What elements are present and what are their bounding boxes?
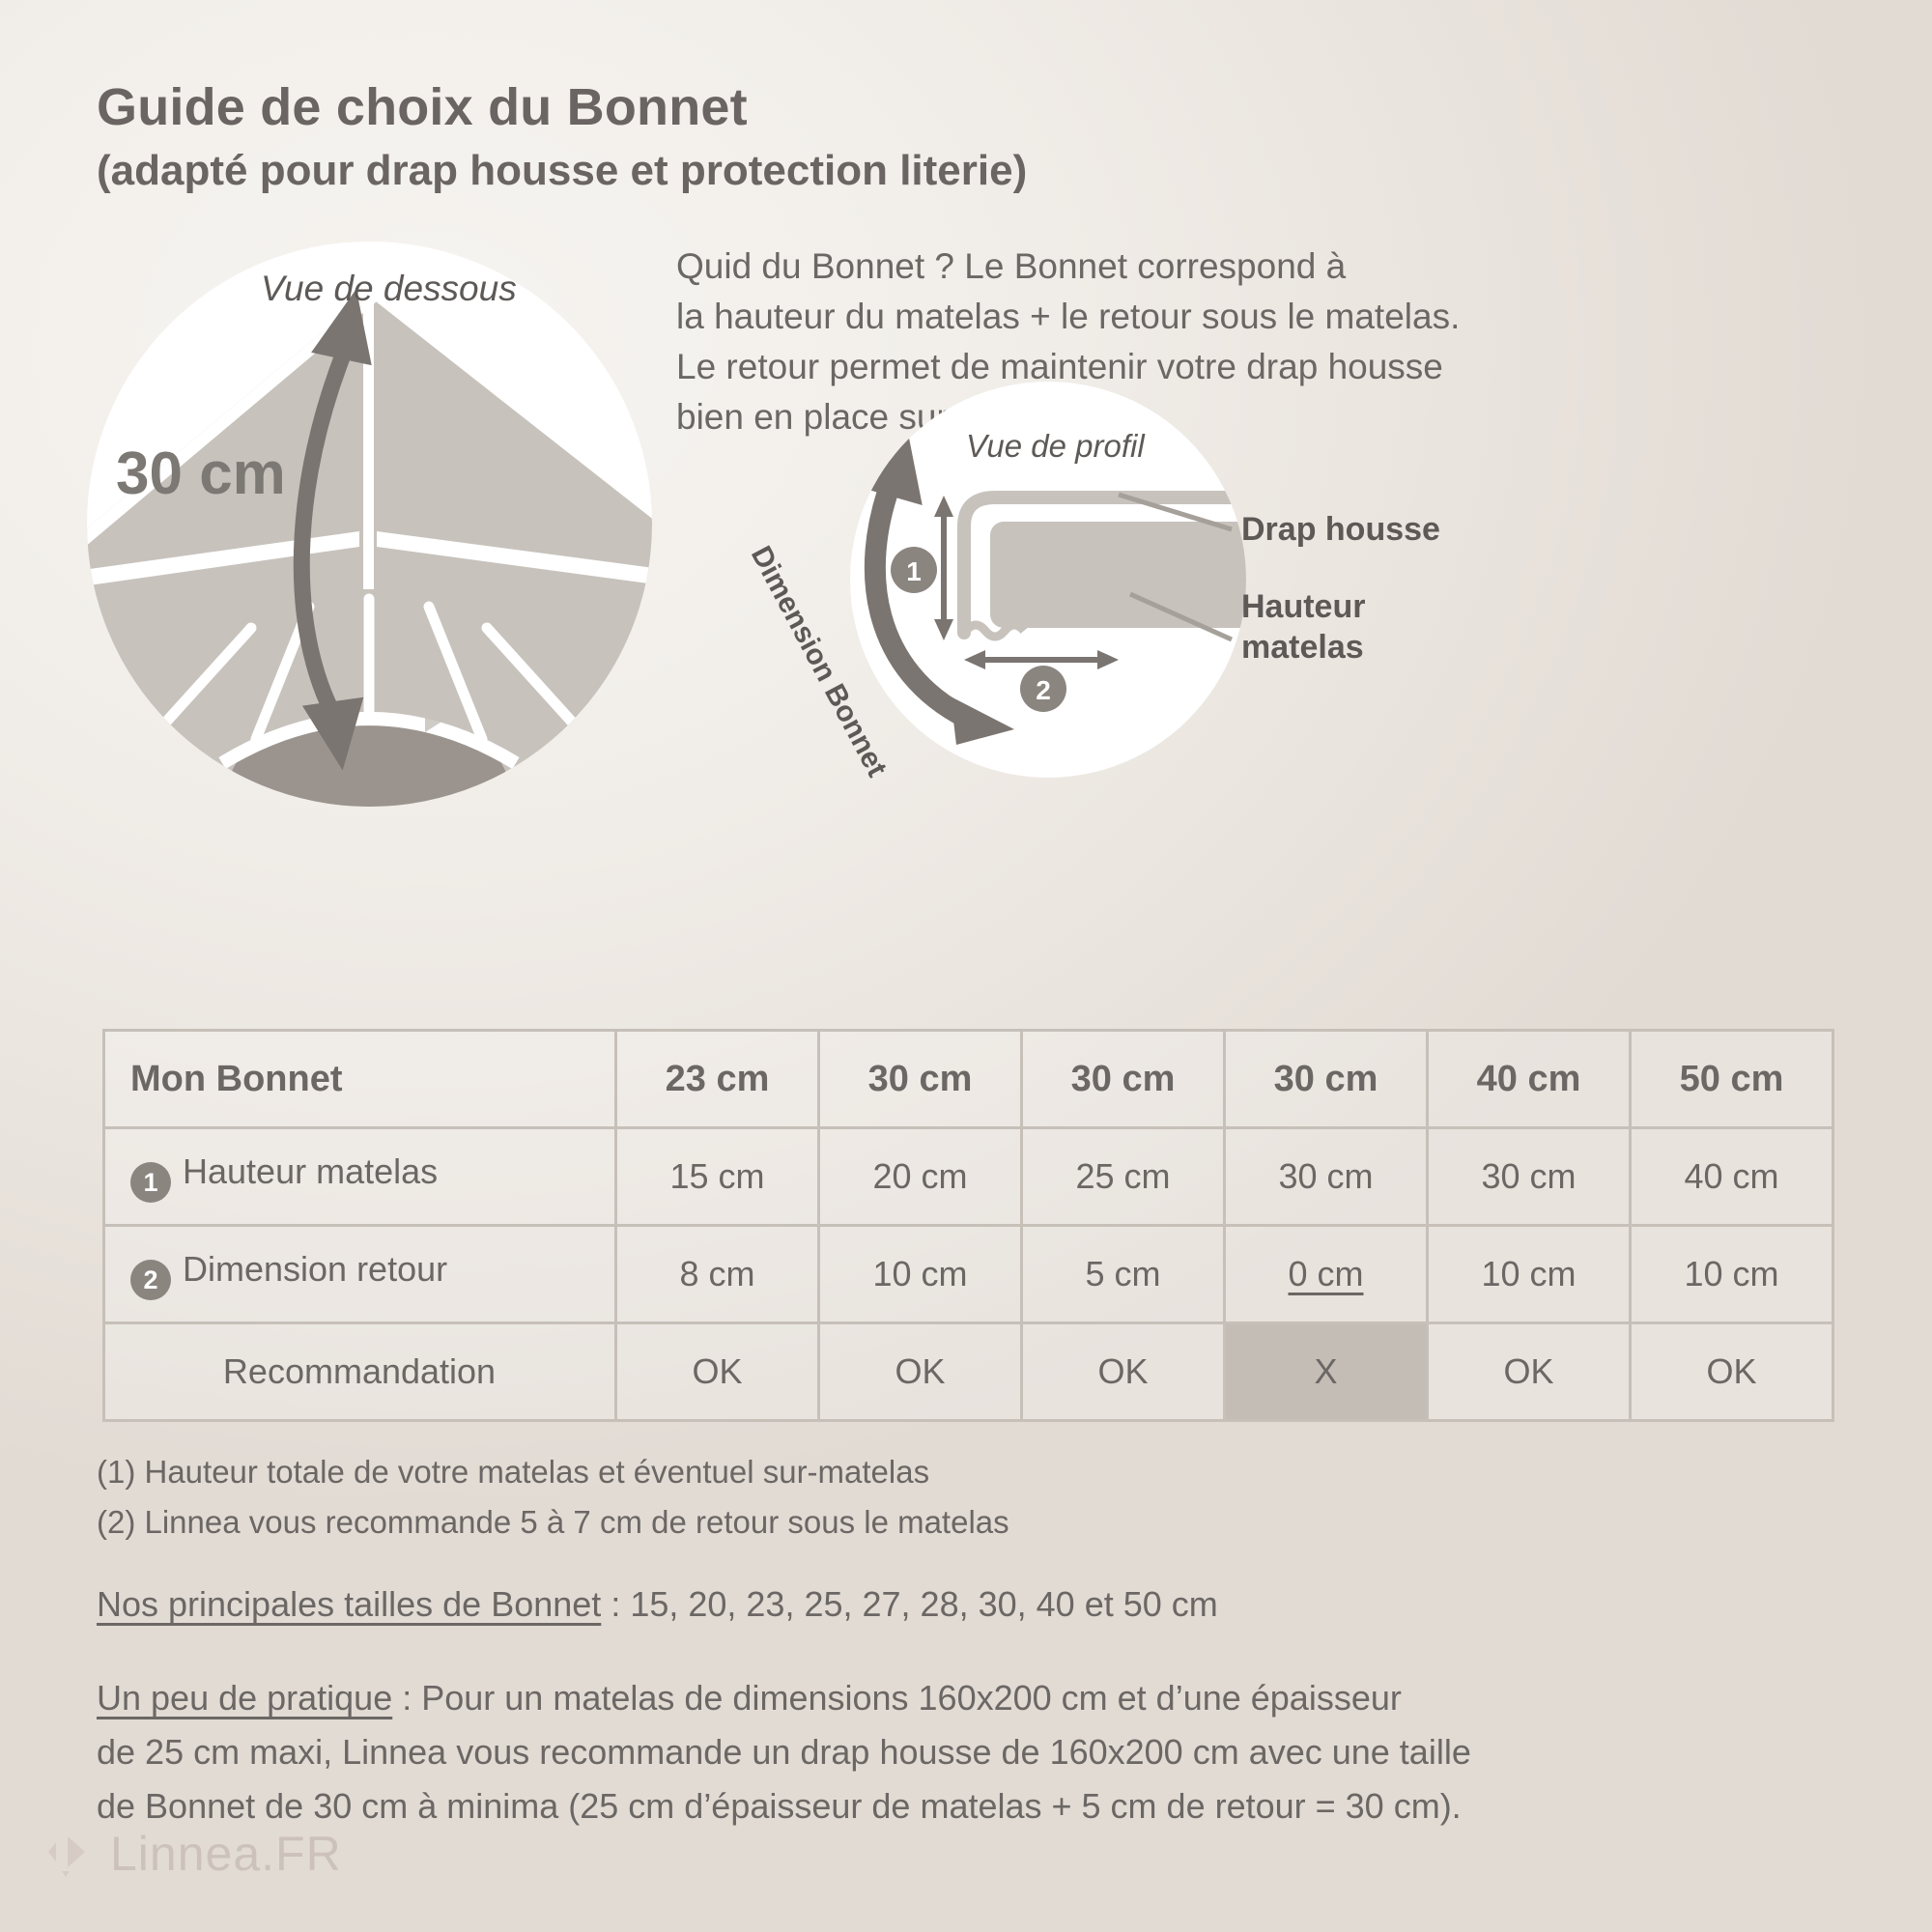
callout-hauteur-line-1: Hauteur	[1241, 588, 1365, 625]
table-cell-hauteur-4: 30 cm	[1428, 1128, 1631, 1226]
principal-sizes-value: : 15, 20, 23, 25, 27, 28, 30, 40 et 50 c…	[601, 1584, 1217, 1624]
table-cell-retour-3: 0 cm	[1225, 1226, 1428, 1323]
table-cell-hauteur-2: 25 cm	[1022, 1128, 1225, 1226]
bonnet-measure-label: 30 cm	[116, 440, 286, 508]
principal-sizes-line: Nos principales tailles de Bonnet : 15, …	[97, 1584, 1218, 1625]
badge-2-icon: 2	[1020, 666, 1066, 712]
table-row: 2Dimension retour 8 cm 10 cm 5 cm 0 cm 1…	[104, 1226, 1833, 1323]
brand-logo[interactable]: Linnea.FR	[39, 1826, 342, 1882]
table-cell-bonnet-5: 50 cm	[1631, 1031, 1833, 1128]
table-cell-reco-5: OK	[1631, 1323, 1833, 1421]
bottom-view-label: Vue de dessous	[261, 269, 517, 309]
table-row: Mon Bonnet 23 cm 30 cm 30 cm 30 cm 40 cm…	[104, 1031, 1833, 1128]
practice-line-2: de 25 cm maxi, Linnea vous recommande un…	[97, 1725, 1471, 1779]
diagram-bottom-view: Vue de dessous 30 cm	[87, 241, 652, 807]
intro-line-2: la hauteur du matelas + le retour sous l…	[676, 292, 1468, 342]
linnea-logo-text: Linnea.FR	[110, 1826, 342, 1882]
linnea-diamond-icon	[39, 1827, 93, 1881]
page-title: Guide de choix du Bonnet	[97, 77, 748, 137]
practice-line-1: Un peu de pratique : Pour un matelas de …	[97, 1671, 1471, 1725]
table-cell-retour-0: 8 cm	[616, 1226, 819, 1323]
footnote-1: (1) Hauteur totale de votre matelas et é…	[97, 1454, 929, 1491]
table-row-label-retour: 2Dimension retour	[104, 1226, 616, 1323]
practice-label: Un peu de pratique	[97, 1678, 392, 1718]
table-cell-bonnet-4: 40 cm	[1428, 1031, 1631, 1128]
table-row-label-hauteur-text: Hauteur matelas	[183, 1151, 438, 1191]
table-cell-reco-4: OK	[1428, 1323, 1631, 1421]
table-cell-reco-3: X	[1225, 1323, 1428, 1421]
table-cell-bonnet-2: 30 cm	[1022, 1031, 1225, 1128]
badge-1-icon: 1	[130, 1162, 171, 1203]
table-row: Recommandation OK OK OK X OK OK	[104, 1323, 1833, 1421]
table-cell-hauteur-0: 15 cm	[616, 1128, 819, 1226]
callout-drap-housse: Drap housse	[1241, 509, 1440, 550]
table-cell-reco-1: OK	[819, 1323, 1022, 1421]
practice-line-1-rest: : Pour un matelas de dimensions 160x200 …	[392, 1678, 1402, 1718]
bonnet-comparison-table: Mon Bonnet 23 cm 30 cm 30 cm 30 cm 40 cm…	[102, 1029, 1834, 1422]
table-row: 1Hauteur matelas 15 cm 20 cm 25 cm 30 cm…	[104, 1128, 1833, 1226]
practice-paragraph: Un peu de pratique : Pour un matelas de …	[97, 1671, 1471, 1833]
table-cell-retour-1: 10 cm	[819, 1226, 1022, 1323]
infographic-page: Guide de choix du Bonnet (adapté pour dr…	[0, 0, 1932, 1932]
intro-line-1: Quid du Bonnet ? Le Bonnet correspond à	[676, 241, 1468, 292]
principal-sizes-label: Nos principales tailles de Bonnet	[97, 1584, 601, 1624]
table-row-label-hauteur: 1Hauteur matelas	[104, 1128, 616, 1226]
table-cell-retour-4: 10 cm	[1428, 1226, 1631, 1323]
table-cell-bonnet-0: 23 cm	[616, 1031, 819, 1128]
table-cell-bonnet-1: 30 cm	[819, 1031, 1022, 1128]
bottom-view-illustration	[87, 241, 652, 807]
callout-hauteur-line-2: matelas	[1241, 629, 1364, 666]
table-cell-hauteur-1: 20 cm	[819, 1128, 1022, 1226]
table-cell-reco-2: OK	[1022, 1323, 1225, 1421]
badge-1-icon: 1	[891, 547, 937, 593]
badge-2-icon: 2	[130, 1260, 171, 1300]
table-header-label: Mon Bonnet	[104, 1031, 616, 1128]
svg-text:1: 1	[906, 556, 922, 586]
table-cell-retour-3-value: 0 cm	[1288, 1254, 1363, 1293]
table-cell-retour-2: 5 cm	[1022, 1226, 1225, 1323]
table-cell-retour-5: 10 cm	[1631, 1226, 1833, 1323]
table-cell-bonnet-3: 30 cm	[1225, 1031, 1428, 1128]
table-cell-hauteur-5: 40 cm	[1631, 1128, 1833, 1226]
table-row-label-reco: Recommandation	[104, 1323, 616, 1421]
profile-view-label: Vue de profil	[966, 428, 1145, 465]
table-cell-hauteur-3: 30 cm	[1225, 1128, 1428, 1226]
table-row-label-retour-text: Dimension retour	[183, 1249, 447, 1289]
callout-hauteur-matelas: Hauteur matelas	[1241, 586, 1365, 668]
table-cell-reco-0: OK	[616, 1323, 819, 1421]
svg-text:2: 2	[1036, 675, 1051, 705]
page-subtitle: (adapté pour drap housse et protection l…	[97, 147, 1027, 195]
footnote-2: (2) Linnea vous recommande 5 à 7 cm de r…	[97, 1504, 1009, 1541]
